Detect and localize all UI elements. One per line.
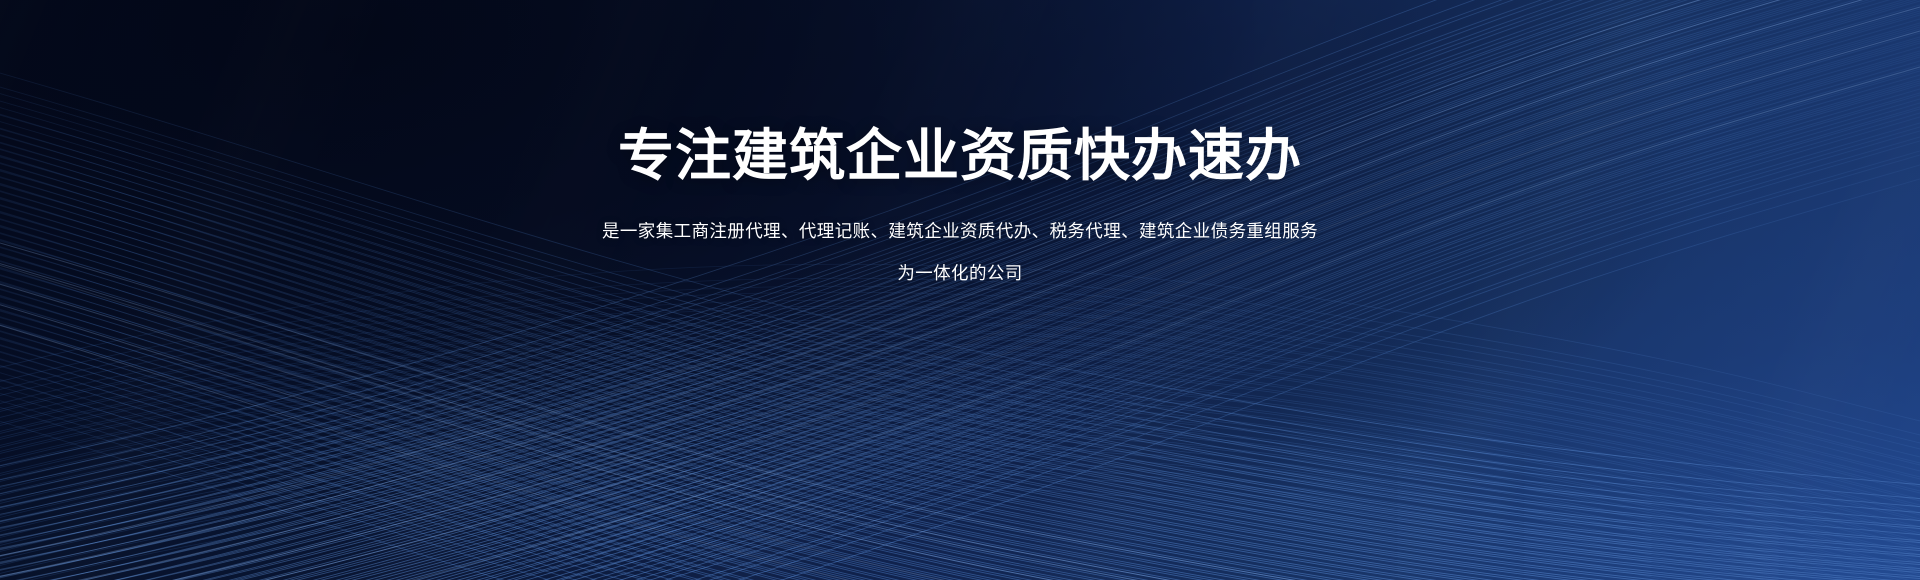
page-subtitle: 是一家集工商注册代理、代理记账、建筑企业资质代办、税务代理、建筑企业债务重组服务… xyxy=(600,188,1320,294)
banner-content: 专注建筑企业资质快办速办 是一家集工商注册代理、代理记账、建筑企业资质代办、税务… xyxy=(0,0,1920,580)
hero-banner: 专注建筑企业资质快办速办 是一家集工商注册代理、代理记账、建筑企业资质代办、税务… xyxy=(0,0,1920,580)
page-title: 专注建筑企业资质快办速办 xyxy=(618,0,1302,188)
